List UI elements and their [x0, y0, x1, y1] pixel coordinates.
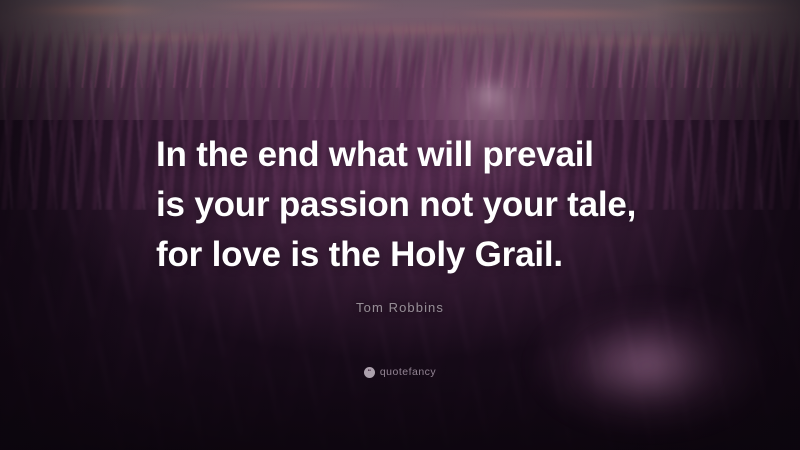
quote-line: In the end what will prevail	[156, 130, 676, 180]
quotefancy-watermark[interactable]: “ quotefancy	[0, 366, 800, 378]
quote-line: for love is the Holy Grail.	[156, 230, 676, 280]
brand-name: quotefancy	[380, 366, 436, 378]
quote-content: In the end what will prevail is your pas…	[0, 0, 800, 450]
quote-text: In the end what will prevail is your pas…	[156, 130, 676, 280]
quote-mark-icon: “	[364, 367, 375, 378]
wallpaper-canvas: In the end what will prevail is your pas…	[0, 0, 800, 450]
quote-line: is your passion not your tale,	[156, 180, 676, 230]
quote-author: Tom Robbins	[0, 300, 800, 315]
